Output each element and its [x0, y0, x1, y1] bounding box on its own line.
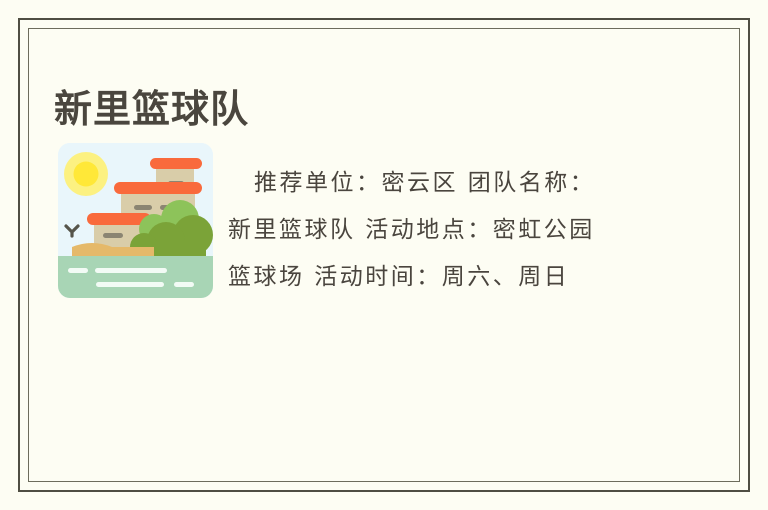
wave-line-4: [174, 282, 194, 287]
page-content: 新里篮球队: [0, 0, 768, 510]
wave-line-2: [95, 268, 167, 273]
page-root: 新里篮球队: [0, 0, 768, 510]
building-mid-window-left: [134, 205, 152, 210]
park-scene-svg: [58, 143, 213, 298]
activity-details-text: 推荐单位：密云区 团队名称：新里篮球队 活动地点：密虹公园篮球场 活动时间：周六…: [228, 170, 595, 290]
building-back-roof: [150, 158, 202, 169]
wave-line-1: [68, 268, 88, 273]
building-front-window: [103, 233, 123, 238]
park-scene-illustration: [58, 143, 213, 298]
page-title: 新里篮球队: [54, 87, 249, 133]
wave-line-3: [96, 282, 164, 287]
building-mid-roof: [114, 182, 202, 194]
water-area: [58, 256, 213, 298]
sun-core-icon: [74, 162, 99, 187]
activity-details: 推荐单位：密云区 团队名称：新里篮球队 活动地点：密虹公园篮球场 活动时间：周六…: [228, 160, 620, 301]
